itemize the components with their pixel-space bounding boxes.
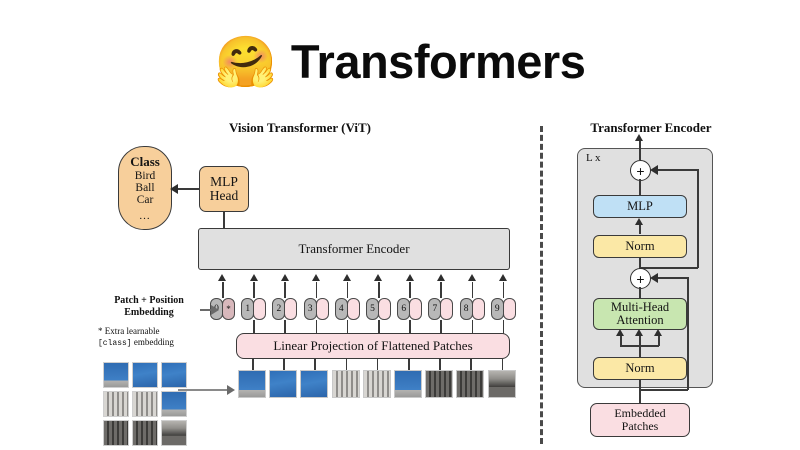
token-patch-8 [472,298,485,320]
patch-to-projection-line-3 [314,359,316,370]
extra-learnable-note: * Extra learnable [class] embedding [98,326,206,349]
qkv-arrowhead-k [635,329,643,336]
token-arrowhead-6 [406,274,414,281]
extra-note-class-token: [class] [98,339,132,348]
projection-to-token-line-4 [347,320,349,334]
norm-to-mlp-arrowhead [635,218,643,225]
hugging-face-emoji: 🤗 [215,37,277,87]
source-patch-r1-c1 [103,362,129,388]
token-arrow-line-8 [472,282,474,298]
token-number-9: 9 [491,298,504,320]
encoder-panel-heading: Transformer Encoder [556,120,746,136]
source-patch-r2-c2 [132,391,158,417]
flattened-patch-4 [332,370,360,398]
flattened-patch-3 [300,370,328,398]
patch-to-projection-line-8 [470,359,472,370]
slide-canvas: 🤗 Transformers Vision Transformer (ViT) … [0,0,800,450]
token-8: 8 [460,298,485,320]
class-token-star: * [222,298,235,320]
token-patch-5 [378,298,391,320]
token-arrowhead-5 [374,274,382,281]
token-patch-1 [253,298,266,320]
token-patch-6 [409,298,422,320]
mlp-to-add-line [639,179,641,195]
token-arrowhead-2 [281,274,289,281]
residual-mid-arrowhead [650,273,658,283]
token-arrow-line-9 [503,282,505,298]
residual-top-vertical [697,169,699,268]
encoder-output-line [639,138,641,160]
residual-mid-vertical [687,277,689,390]
class-item-car: Car [137,194,154,206]
source-to-strip-line [178,389,228,391]
attention-line2: Attention [616,314,663,328]
token-number-8: 8 [460,298,473,320]
token-arrowhead-7 [437,274,445,281]
flattened-patch-6 [394,370,422,398]
extra-note-suffix: embedding [132,337,174,347]
plus-symbol-mid: + [636,272,644,286]
residual-mid-tap [640,389,688,391]
token-arrow-line-1 [253,282,255,298]
residual-top-arrowhead [650,165,658,175]
flattened-patch-9 [488,370,516,398]
transformer-encoder-bar: Transformer Encoder [198,228,510,270]
token-arrowhead-1 [250,274,258,281]
mlp-head-line2: Head [210,189,238,203]
token-3: 3 [304,298,329,320]
source-patch-r3-c2 [132,420,158,446]
vit-panel-heading: Vision Transformer (ViT) [160,120,440,136]
source-to-strip-arrowhead [227,385,235,395]
extra-note-prefix: * Extra learnable [98,326,159,336]
residual-mid-horizontal [657,277,688,279]
token-9: 9 [491,298,516,320]
residual-add-mid: + [630,268,651,289]
patch-to-projection-line-6 [408,359,410,370]
class-output-box: Class Bird Ball Car ... [118,146,172,230]
projection-to-token-line-7 [440,320,442,334]
flattened-patch-8 [456,370,484,398]
token-arrowhead-0 [218,274,226,281]
patch-to-projection-line-5 [377,359,379,370]
patch-to-projection-line-4 [346,359,348,370]
mlp-to-class-line [176,188,200,190]
residual-top-tap [640,267,698,269]
token-7: 7 [428,298,453,320]
encoder-repeat-label: L x [586,152,601,164]
encoder-norm-bottom-box: Norm [593,357,687,380]
embedded-to-norm-line [639,380,641,404]
token-arrowhead-4 [343,274,351,281]
token-number-3: 3 [304,298,317,320]
patch-to-projection-line-1 [252,359,254,370]
class-item-bird: Bird [135,170,155,182]
projection-to-token-line-6 [409,320,411,334]
encoder-attention-box: Multi-Head Attention [593,298,687,330]
attention-line1: Multi-Head [611,301,669,315]
token-arrow-line-7 [440,282,442,298]
encoder-mlp-box: MLP [593,195,687,218]
mlp-head-box: MLP Head [199,166,249,212]
flattened-patch-1 [238,370,266,398]
token-2: 2 [272,298,297,320]
projection-to-token-line-9 [503,320,505,334]
token-arrowhead-8 [468,274,476,281]
source-patch-r3-c1 [103,420,129,446]
patch-to-projection-line-9 [502,359,504,370]
token-5: 5 [366,298,391,320]
encoder-norm-top-box: Norm [593,235,687,258]
token-arrowhead-9 [499,274,507,281]
qkv-arrowhead-q [616,329,624,336]
mlp-to-encoder-line [223,212,225,229]
flattened-patch-5 [363,370,391,398]
source-patch-r3-c3 [161,420,187,446]
token-arrow-line-3 [316,282,318,298]
token-arrow-line-5 [378,282,380,298]
source-patch-r1-c2 [132,362,158,388]
patch-position-embedding-label: Patch + Position Embedding [96,295,202,318]
mlp-to-class-arrowhead [170,184,178,194]
token-patch-4 [347,298,360,320]
patch-to-projection-line-2 [283,359,285,370]
encoder-output-arrowhead [635,134,643,141]
token-4: 4 [335,298,360,320]
class-item-ball: Ball [135,182,154,194]
embedded-line2: Patches [622,420,659,433]
projection-to-token-line-1 [253,320,255,334]
residual-top-horizontal [657,169,698,171]
token-arrow-line-4 [347,282,349,298]
token-patch-7 [440,298,453,320]
token-arrow-line-2 [284,282,286,298]
source-patch-r2-c1 [103,391,129,417]
projection-to-token-line-3 [316,320,318,334]
plus-symbol-top: + [636,164,644,178]
token-patch-3 [316,298,329,320]
slide-title: 🤗 Transformers [0,28,800,94]
class-ellipsis: ... [139,211,150,223]
source-patch-r2-c3 [161,391,187,417]
token-patch-9 [503,298,516,320]
token-arrow-line-6 [409,282,411,298]
token-arrowhead-3 [312,274,320,281]
qkv-arrowhead-v [654,329,662,336]
projection-to-token-line-5 [378,320,380,334]
linear-projection-bar: Linear Projection of Flattened Patches [236,333,510,359]
flattened-patch-7 [425,370,453,398]
projection-to-token-line-2 [284,320,286,334]
token-arrow-line-0 [222,282,224,298]
mlp-head-line1: MLP [210,175,238,189]
qkv-line-k [639,333,641,357]
token-6: 6 [397,298,422,320]
embedded-patches-box: Embedded Patches [590,403,690,437]
flattened-patch-2 [269,370,297,398]
token-number-4: 4 [335,298,348,320]
page-title: Transformers [291,38,585,85]
label-to-token-arrowhead [211,305,219,315]
class-title: Class [130,155,160,169]
patch-to-projection-line-7 [439,359,441,370]
token-patch-2 [284,298,297,320]
projection-to-token-line-8 [472,320,474,334]
panel-divider [540,126,543,444]
source-patch-r1-c3 [161,362,187,388]
token-1: 1 [241,298,266,320]
residual-add-top: + [630,160,651,181]
